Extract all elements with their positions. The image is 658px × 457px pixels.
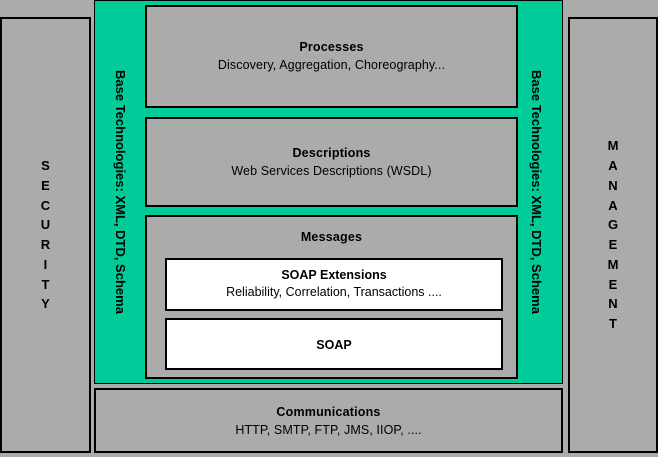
management-pillar-label: M A N A G E M E N T	[608, 136, 619, 334]
communications-title: Communications	[96, 405, 561, 419]
security-pillar: S E C U R I T Y	[0, 17, 91, 453]
management-letter: N	[608, 176, 617, 196]
messages-title: Messages	[147, 230, 516, 244]
communications-subtitle: HTTP, SMTP, FTP, JMS, IIOP, ....	[96, 423, 561, 437]
layer-communications: Communications HTTP, SMTP, FTP, JMS, IIO…	[94, 388, 563, 453]
security-letter: R	[41, 235, 50, 255]
layer-processes: Processes Discovery, Aggregation, Choreo…	[145, 5, 518, 108]
management-letter: A	[608, 156, 617, 176]
management-letter: E	[609, 275, 618, 295]
management-letter: A	[608, 196, 617, 216]
base-technologies-label-left-text: Base Technologies: XML, DTD, Schema	[113, 70, 128, 314]
security-letter: S	[41, 156, 50, 176]
layer-soap: SOAP	[165, 318, 503, 370]
base-technologies-label-right: Base Technologies: XML, DTD, Schema	[511, 1, 562, 383]
security-letter: C	[41, 196, 50, 216]
descriptions-subtitle: Web Services Descriptions (WSDL)	[147, 164, 516, 178]
processes-title: Processes	[147, 40, 516, 54]
descriptions-title: Descriptions	[147, 146, 516, 160]
management-pillar: M A N A G E M E N T	[568, 17, 658, 453]
base-technologies-label-right-text: Base Technologies: XML, DTD, Schema	[529, 70, 544, 314]
architecture-diagram: S E C U R I T Y Base Technologies: XML, …	[0, 0, 658, 457]
management-letter: E	[609, 235, 618, 255]
security-letter: I	[44, 255, 48, 275]
soap-extensions-title: SOAP Extensions	[167, 268, 501, 282]
base-technologies-label-left: Base Technologies: XML, DTD, Schema	[95, 1, 146, 383]
security-letter: Y	[41, 294, 50, 314]
management-letter: T	[609, 314, 617, 334]
processes-subtitle: Discovery, Aggregation, Choreography...	[147, 58, 516, 72]
management-letter: N	[608, 294, 617, 314]
soap-extensions-subtitle: Reliability, Correlation, Transactions .…	[167, 285, 501, 299]
security-letter: U	[41, 215, 50, 235]
management-letter: G	[608, 215, 618, 235]
security-letter: T	[42, 275, 50, 295]
layer-soap-extensions: SOAP Extensions Reliability, Correlation…	[165, 258, 503, 311]
security-pillar-label: S E C U R I T Y	[41, 156, 50, 314]
security-letter: E	[41, 176, 50, 196]
management-letter: M	[608, 255, 619, 275]
soap-title: SOAP	[167, 338, 501, 352]
management-letter: M	[608, 136, 619, 156]
layer-descriptions: Descriptions Web Services Descriptions (…	[145, 117, 518, 207]
